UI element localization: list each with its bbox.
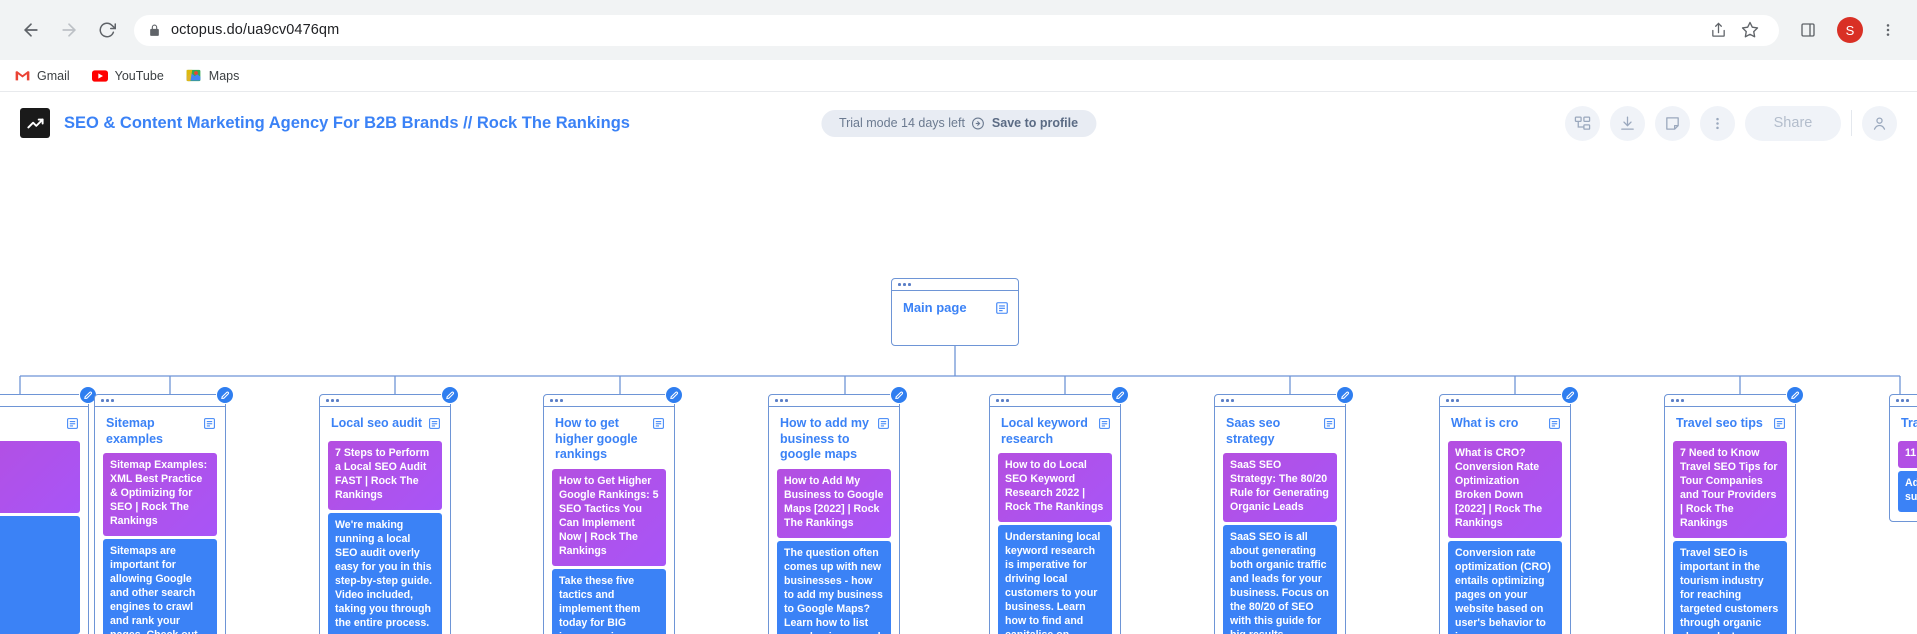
three-dot-icon[interactable] <box>0 395 88 407</box>
page-block-description[interactable]: Sitemaps are important for allowing Goog… <box>103 539 217 634</box>
page-block-title[interactable]: How to Get Higher Google Rankings: 5 SEO… <box>552 469 666 566</box>
node-page[interactable]: Local keyword research How to do Local S… <box>989 394 1121 634</box>
node-main-page[interactable]: Main page <box>891 278 1019 346</box>
youtube-icon <box>92 68 108 84</box>
page-block-description[interactable]: Understaning local keyword research is i… <box>998 525 1112 634</box>
document-lines-icon[interactable] <box>1773 417 1786 435</box>
edit-page-icon[interactable] <box>890 386 908 404</box>
node-page[interactable]: How to add my business to google maps Ho… <box>768 394 900 634</box>
node-title: Travel seo tips <box>1676 416 1763 432</box>
url-text: octopus.do/ua9cv0476qm <box>171 22 339 38</box>
trial-text: Trial mode 14 days left <box>839 116 965 130</box>
node-page[interactable]: What is cro What is CRO? Conversion Rate… <box>1439 394 1571 634</box>
maps-icon <box>186 68 202 84</box>
document-lines-icon[interactable] <box>652 417 665 435</box>
node-page[interactable]: Sitemap examples Sitemap Examples: XML B… <box>94 394 226 634</box>
page-block-title[interactable]: 7 Need to Know Travel SEO Tips for Tour … <box>1673 441 1787 538</box>
bookmarks-bar: Gmail YouTube Maps <box>0 60 1917 92</box>
profile-avatar[interactable]: S <box>1837 17 1863 43</box>
three-dot-icon[interactable] <box>1665 395 1795 407</box>
page-block-description[interactable]: We're making running a local SEO audit o… <box>328 513 442 634</box>
node-page[interactable]: Travel ma 11 T Tip 202 Ran Ad you wit ma… <box>1889 394 1917 522</box>
edit-page-icon[interactable] <box>1561 386 1579 404</box>
sticky-note-icon[interactable] <box>1655 106 1690 141</box>
bookmark-youtube[interactable]: YouTube <box>92 68 164 84</box>
toolbar-divider <box>1851 110 1852 136</box>
node-page[interactable]: Saas seo strategy SaaS SEO Strategy: The… <box>1214 394 1346 634</box>
document-lines-icon[interactable] <box>877 417 890 435</box>
back-arrow-icon[interactable] <box>14 13 48 47</box>
bookmark-label: Maps <box>209 69 240 83</box>
node-title: Travel ma <box>1901 416 1917 432</box>
bookmark-label: YouTube <box>115 69 164 83</box>
three-dot-icon[interactable] <box>1890 395 1917 407</box>
page-block-description[interactable]: Travel SEO is important in the tourism i… <box>1673 541 1787 634</box>
side-panel-icon[interactable] <box>1793 15 1823 45</box>
page-block-description[interactable]: Conversion rate optimization (CRO) entai… <box>1448 541 1562 634</box>
page-block-description[interactable]: Ad you wit ma will suc ma can <box>1898 471 1917 512</box>
page-block-title[interactable]: What is CRO? Conversion Rate Optimizatio… <box>1448 441 1562 538</box>
edit-page-icon[interactable] <box>216 386 234 404</box>
node-page[interactable]: How to get higher google rankings How to… <box>543 394 675 634</box>
address-bar[interactable]: octopus.do/ua9cv0476qm <box>134 15 1779 46</box>
trial-banner[interactable]: Trial mode 14 days left Save to profile <box>821 110 1096 137</box>
bookmark-gmail[interactable]: Gmail <box>14 68 70 84</box>
forward-arrow-icon[interactable] <box>52 13 86 47</box>
three-dot-icon[interactable] <box>1440 395 1570 407</box>
sitemap-canvas[interactable]: Main page Sitemap examples Sitemap Examp… <box>0 154 1917 634</box>
edit-page-icon[interactable] <box>441 386 459 404</box>
more-options-button[interactable] <box>1700 106 1735 141</box>
gmail-icon <box>14 68 30 84</box>
browser-toolbar: octopus.do/ua9cv0476qm S <box>0 0 1917 60</box>
document-lines-icon[interactable] <box>1323 417 1336 435</box>
page-block-description[interactable]: SaaS SEO is all about generating both or… <box>1223 525 1337 634</box>
connector-edges <box>0 154 1917 634</box>
document-lines-icon[interactable] <box>1098 417 1111 435</box>
share-button[interactable]: Share <box>1745 106 1841 141</box>
page-block-title[interactable] <box>0 441 80 513</box>
reload-icon[interactable] <box>90 13 124 47</box>
node-title: How to get higher google rankings <box>555 416 646 463</box>
page-block-title[interactable]: How to Add My Business to Google Maps [2… <box>777 469 891 538</box>
document-lines-icon[interactable] <box>66 417 79 435</box>
node-title: Local seo audit <box>331 416 422 432</box>
page-title: SEO & Content Marketing Agency For B2B B… <box>64 114 630 133</box>
node-page[interactable] <box>0 394 89 634</box>
bookmark-maps[interactable]: Maps <box>186 68 240 84</box>
edit-page-icon[interactable] <box>1336 386 1354 404</box>
node-title: Main page <box>903 300 967 316</box>
edit-page-icon[interactable] <box>1786 386 1804 404</box>
node-title: How to add my business to google maps <box>780 416 871 463</box>
node-title: Sitemap examples <box>106 416 197 447</box>
three-dot-icon[interactable] <box>95 395 225 407</box>
three-dot-icon[interactable] <box>320 395 450 407</box>
sitemap-tree-icon[interactable] <box>1565 106 1600 141</box>
three-dot-icon[interactable] <box>1215 395 1345 407</box>
edit-page-icon[interactable] <box>665 386 683 404</box>
edit-page-icon[interactable] <box>1111 386 1129 404</box>
page-block-description[interactable] <box>0 516 80 634</box>
three-dot-icon[interactable] <box>990 395 1120 407</box>
node-title: Saas seo strategy <box>1226 416 1317 447</box>
page-block-description[interactable]: Take these five tactics and implement th… <box>552 569 666 634</box>
app-header: SEO & Content Marketing Agency For B2B B… <box>0 92 1917 154</box>
three-dot-menu-icon[interactable] <box>1873 15 1903 45</box>
arrow-right-circle-icon <box>972 117 985 130</box>
page-block-title[interactable]: 11 T Tip 202 Ran <box>1898 441 1917 468</box>
lock-icon <box>148 24 161 37</box>
page-block-title[interactable]: SaaS SEO Strategy: The 80/20 Rule for Ge… <box>1223 453 1337 522</box>
page-block-title[interactable]: Sitemap Examples: XML Best Practice & Op… <box>103 453 217 536</box>
three-dot-icon[interactable] <box>769 395 899 407</box>
bookmark-label: Gmail <box>37 69 70 83</box>
node-title: Local keyword research <box>1001 416 1092 447</box>
chart-up-logo-icon[interactable] <box>20 108 50 138</box>
save-to-profile-link[interactable]: Save to profile <box>992 116 1078 130</box>
star-icon[interactable] <box>1735 15 1765 45</box>
download-icon[interactable] <box>1610 106 1645 141</box>
page-block-title[interactable]: How to do Local SEO Keyword Research 202… <box>998 453 1112 522</box>
share-icon[interactable] <box>1703 15 1733 45</box>
person-icon[interactable] <box>1862 106 1897 141</box>
page-block-description[interactable]: The question often comes up with new bus… <box>777 541 891 634</box>
page-block-title[interactable]: 7 Steps to Perform a Local SEO Audit FAS… <box>328 441 442 510</box>
header-toolbar: Share <box>1565 106 1897 141</box>
document-lines-icon[interactable] <box>428 417 441 435</box>
document-lines-icon[interactable] <box>995 301 1009 320</box>
node-title: What is cro <box>1451 416 1518 432</box>
document-lines-icon[interactable] <box>1548 417 1561 435</box>
node-page[interactable]: Travel seo tips 7 Need to Know Travel SE… <box>1664 394 1796 634</box>
three-dot-icon[interactable] <box>892 279 1018 291</box>
three-dot-icon[interactable] <box>544 395 674 407</box>
document-lines-icon[interactable] <box>203 417 216 435</box>
node-page[interactable]: Local seo audit 7 Steps to Perform a Loc… <box>319 394 451 634</box>
